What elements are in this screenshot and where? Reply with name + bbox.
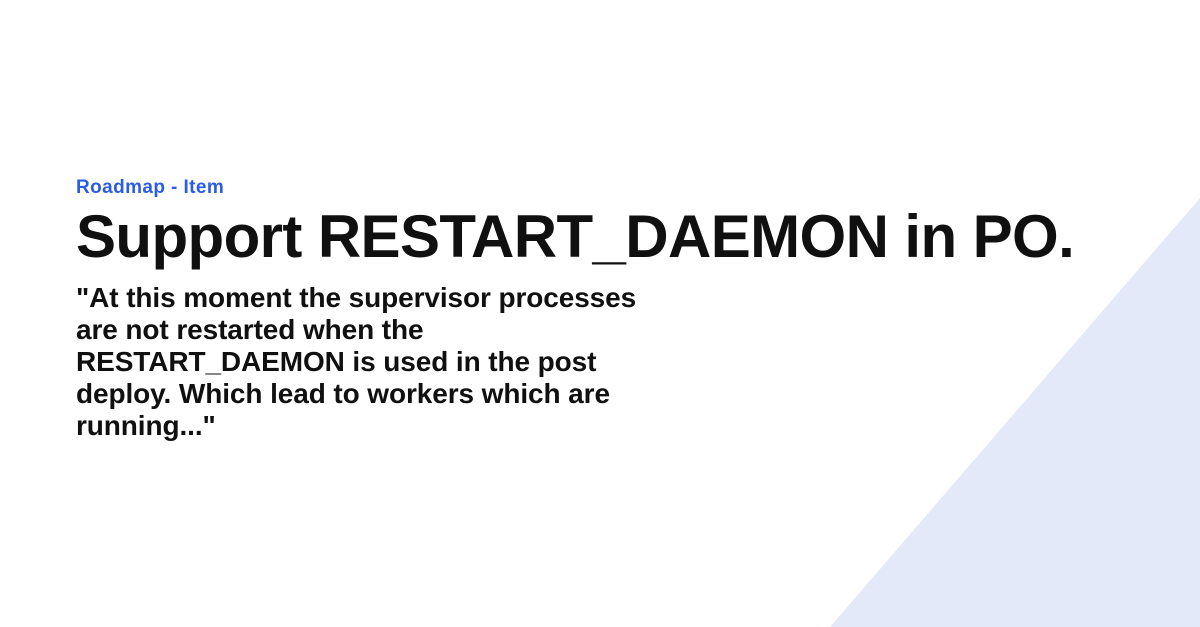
card-eyebrow-label: Roadmap - Item <box>76 176 1200 200</box>
card-content: Roadmap - Item Support RESTART_DAEMON in… <box>76 176 1200 442</box>
og-card: Roadmap - Item Support RESTART_DAEMON in… <box>0 0 1200 627</box>
card-excerpt-text: "At this moment the supervisor processes… <box>76 282 676 442</box>
page-title: Support RESTART_DAEMON in PO. <box>76 204 1200 270</box>
